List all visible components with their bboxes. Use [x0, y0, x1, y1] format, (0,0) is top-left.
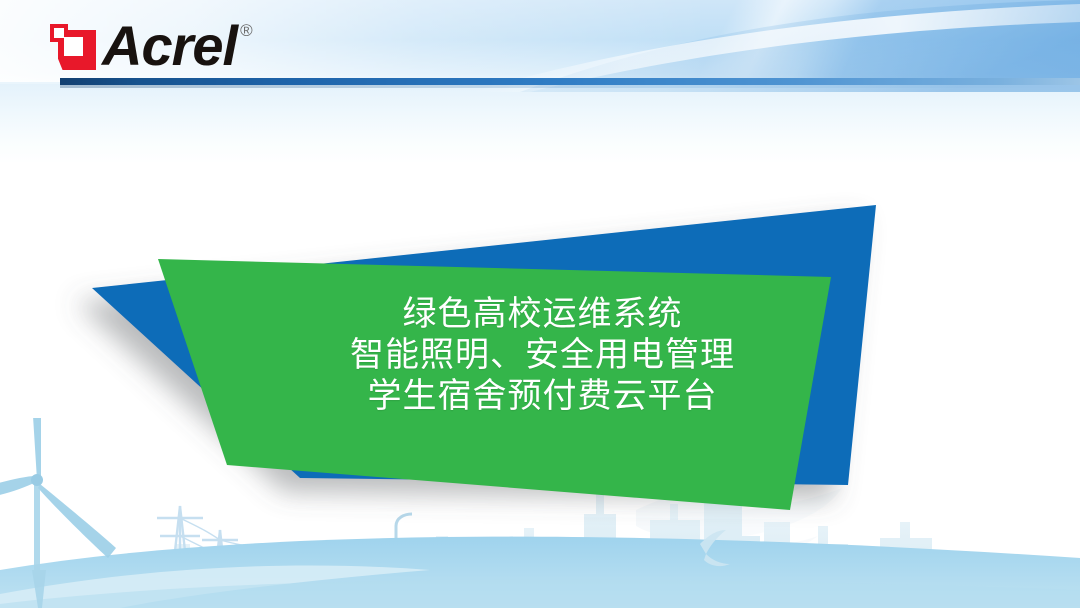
- slide-title: 绿色高校运维系统 智能照明、安全用电管理 学生宿舍预付费云平台: [330, 294, 755, 417]
- acrel-wordmark: Acrel: [102, 18, 237, 74]
- registered-trademark-icon: ®: [240, 22, 253, 39]
- header-rule-divider: [60, 78, 1080, 85]
- header-bottom-fade: [0, 84, 1080, 164]
- title-line-1: 绿色高校运维系统: [330, 294, 755, 335]
- title-line-3: 学生宿舍预付费云平台: [330, 376, 755, 417]
- background-cityscape-watermark: [0, 418, 1080, 608]
- header-rule-shadow: [60, 85, 1080, 88]
- acrel-logo-mark-icon: [50, 24, 96, 70]
- title-line-2: 智能照明、安全用电管理: [330, 335, 755, 376]
- presentation-slide: Acrel ®: [0, 0, 1080, 608]
- acrel-logo: Acrel ®: [50, 18, 253, 74]
